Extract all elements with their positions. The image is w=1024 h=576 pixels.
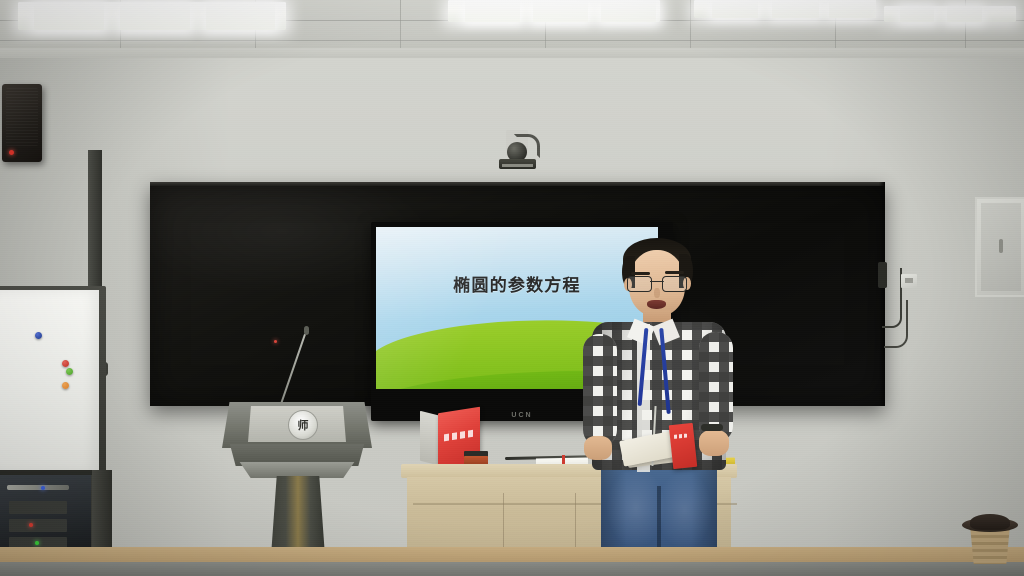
wall-camera <box>494 130 542 174</box>
lecturer-nose <box>654 288 660 298</box>
mobile-whiteboard <box>0 286 106 482</box>
ceiling-light-panel <box>448 0 660 22</box>
blue-magnet <box>35 332 42 339</box>
lecturer-eyebrow-right <box>665 271 684 274</box>
lecturer-mouth <box>647 300 666 309</box>
ceiling-light-panel <box>884 6 1016 22</box>
lectern-shelf <box>236 462 358 478</box>
ceiling-light-panel <box>694 0 872 18</box>
waste-basket <box>962 510 1018 564</box>
shirt-check-pattern <box>583 334 617 446</box>
wall-access-panel <box>975 197 1024 297</box>
skirting-board <box>0 547 1024 563</box>
ceiling-light-panel <box>18 2 286 30</box>
orange-magnet <box>62 382 69 389</box>
floor <box>0 562 1024 576</box>
green-magnet <box>66 368 73 375</box>
lecturer-hand-left <box>584 436 612 460</box>
speaker-grill <box>6 88 38 146</box>
red-magnet <box>62 360 69 367</box>
eyeglass-lens-left <box>627 276 652 292</box>
lecturer-arm-left <box>583 334 617 446</box>
camera-base <box>499 159 536 169</box>
red-status-led <box>29 523 33 527</box>
lecturer-eyebrow-left <box>631 272 650 275</box>
wall-speaker <box>2 84 42 162</box>
classroom-scene: 椭圆的参数方程 UCN 师 <box>0 0 1024 576</box>
emblem-character: 师 <box>298 417 309 433</box>
laser-pointer-dot <box>274 340 277 343</box>
lecturer <box>575 238 743 576</box>
basket-contents <box>970 514 1010 530</box>
rack-device <box>9 519 67 532</box>
whiteboard-surface <box>0 290 99 474</box>
lecturer-hand-right <box>699 430 729 456</box>
blue-status-led <box>41 486 45 490</box>
rack-device <box>9 501 67 514</box>
access-panel-latch <box>999 239 1003 253</box>
green-status-led <box>35 541 39 545</box>
held-red-booklet <box>669 423 697 469</box>
rack-handle[interactable] <box>7 485 69 490</box>
university-emblem: 师 <box>288 410 318 440</box>
speaker-power-led <box>9 150 14 155</box>
tent-card-text <box>444 430 474 442</box>
ceiling <box>0 0 1024 62</box>
wall-cable-secondary <box>884 300 908 348</box>
wall-outlet <box>901 274 917 288</box>
eyeglass-lens-right <box>662 276 687 292</box>
microphone-head <box>304 326 309 335</box>
wristwatch <box>701 424 723 431</box>
